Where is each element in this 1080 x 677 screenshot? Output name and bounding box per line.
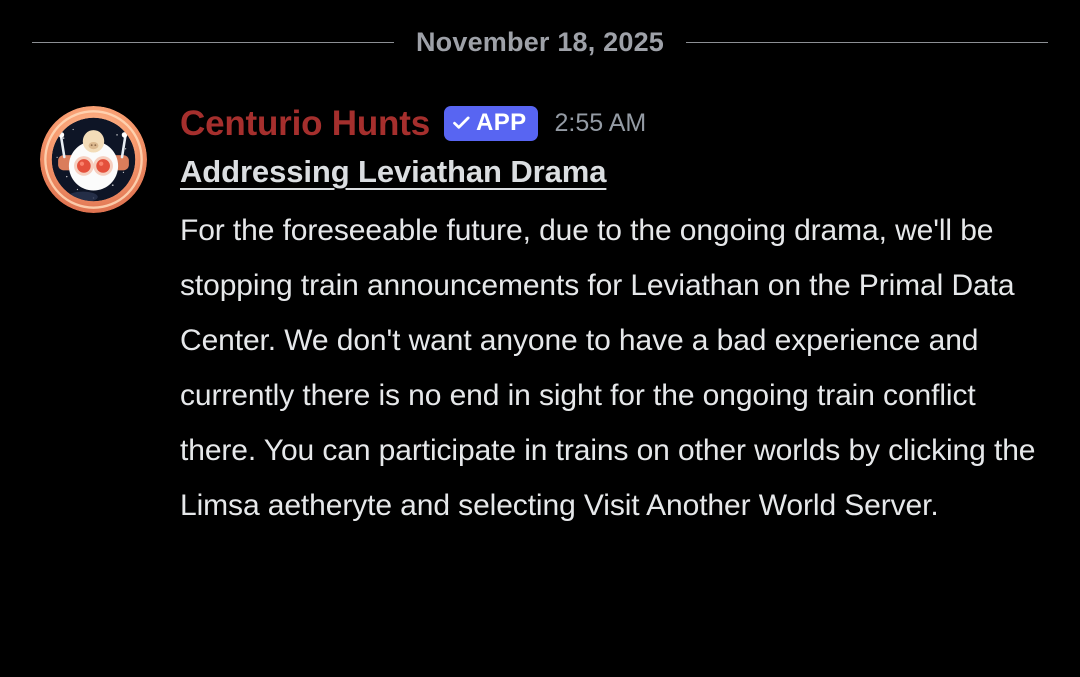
app-badge-label: APP [476,111,527,135]
date-divider-label: November 18, 2025 [394,29,686,56]
app-badge: APP [444,106,538,141]
embed-title[interactable]: Addressing Leviathan Drama [180,154,1066,190]
message-header: Centurio Hunts APP 2:55 AM [180,100,1066,146]
date-divider: November 18, 2025 [32,22,1048,62]
chat-message: Centurio Hunts APP 2:55 AM Addressing Le… [0,100,1080,533]
message-body: Centurio Hunts APP 2:55 AM Addressing Le… [180,100,1080,533]
message-text: For the foreseeable future, due to the o… [180,203,1050,533]
date-divider-rule-left [32,42,394,43]
message-timestamp: 2:55 AM [555,111,647,136]
message-author[interactable]: Centurio Hunts [180,106,430,141]
avatar[interactable] [40,106,147,213]
date-divider-rule-right [686,42,1048,43]
check-icon [453,116,470,130]
